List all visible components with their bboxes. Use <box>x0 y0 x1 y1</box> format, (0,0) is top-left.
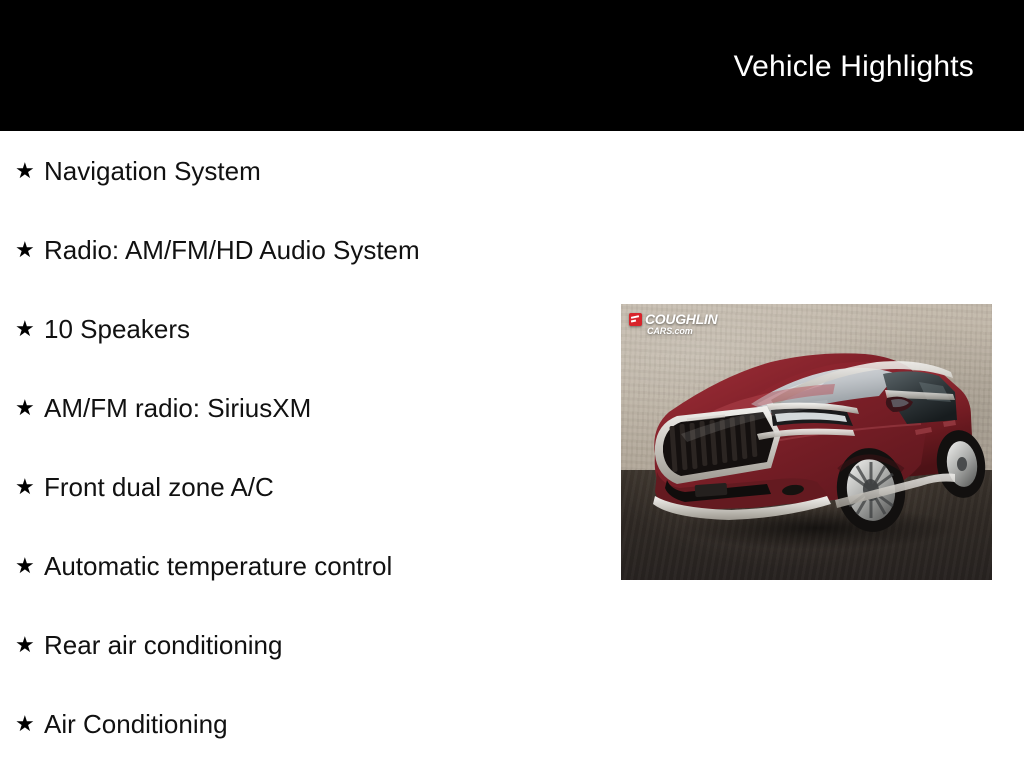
vehicle-highlights-page: Vehicle Highlights ★ Navigation System ★… <box>0 0 1024 768</box>
list-item: ★ AM/FM radio: SiriusXM <box>0 368 600 447</box>
list-item: ★ Air Conditioning <box>0 684 600 763</box>
header-banner: Vehicle Highlights <box>0 0 1024 131</box>
coughlin-logo-icon <box>629 313 642 326</box>
star-icon: ★ <box>15 397 35 419</box>
list-item: ★ Navigation System <box>0 131 600 210</box>
star-icon: ★ <box>15 239 35 261</box>
vehicle-highlights-list: ★ Navigation System ★ Radio: AM/FM/HD Au… <box>0 131 600 763</box>
watermark-subtext: CARS.com <box>647 326 693 337</box>
highlight-label: AM/FM radio: SiriusXM <box>44 393 311 423</box>
highlight-label: Navigation System <box>44 156 261 186</box>
highlight-label: Air Conditioning <box>44 709 228 739</box>
vehicle-image[interactable]: COUGHLIN CARS.com <box>621 304 992 580</box>
star-icon: ★ <box>15 713 35 735</box>
highlight-label: Radio: AM/FM/HD Audio System <box>44 235 420 265</box>
list-item: ★ Rear air conditioning <box>0 605 600 684</box>
star-icon: ★ <box>15 555 35 577</box>
list-item: ★ Front dual zone A/C <box>0 447 600 526</box>
list-item: ★ 10 Speakers <box>0 289 600 368</box>
star-icon: ★ <box>15 318 35 340</box>
watermark-brand: COUGHLIN <box>645 312 717 326</box>
star-icon: ★ <box>15 476 35 498</box>
list-item: ★ Automatic temperature control <box>0 526 600 605</box>
highlight-label: Rear air conditioning <box>44 630 282 660</box>
page-title: Vehicle Highlights <box>734 50 974 84</box>
highlight-label: Front dual zone A/C <box>44 472 274 502</box>
minivan-illustration <box>621 304 992 580</box>
list-item: ★ Radio: AM/FM/HD Audio System <box>0 210 600 289</box>
highlight-label: Automatic temperature control <box>44 551 392 581</box>
star-icon: ★ <box>15 634 35 656</box>
star-icon: ★ <box>15 160 35 182</box>
dealer-watermark: COUGHLIN CARS.com <box>629 312 717 337</box>
highlight-label: 10 Speakers <box>44 314 190 344</box>
